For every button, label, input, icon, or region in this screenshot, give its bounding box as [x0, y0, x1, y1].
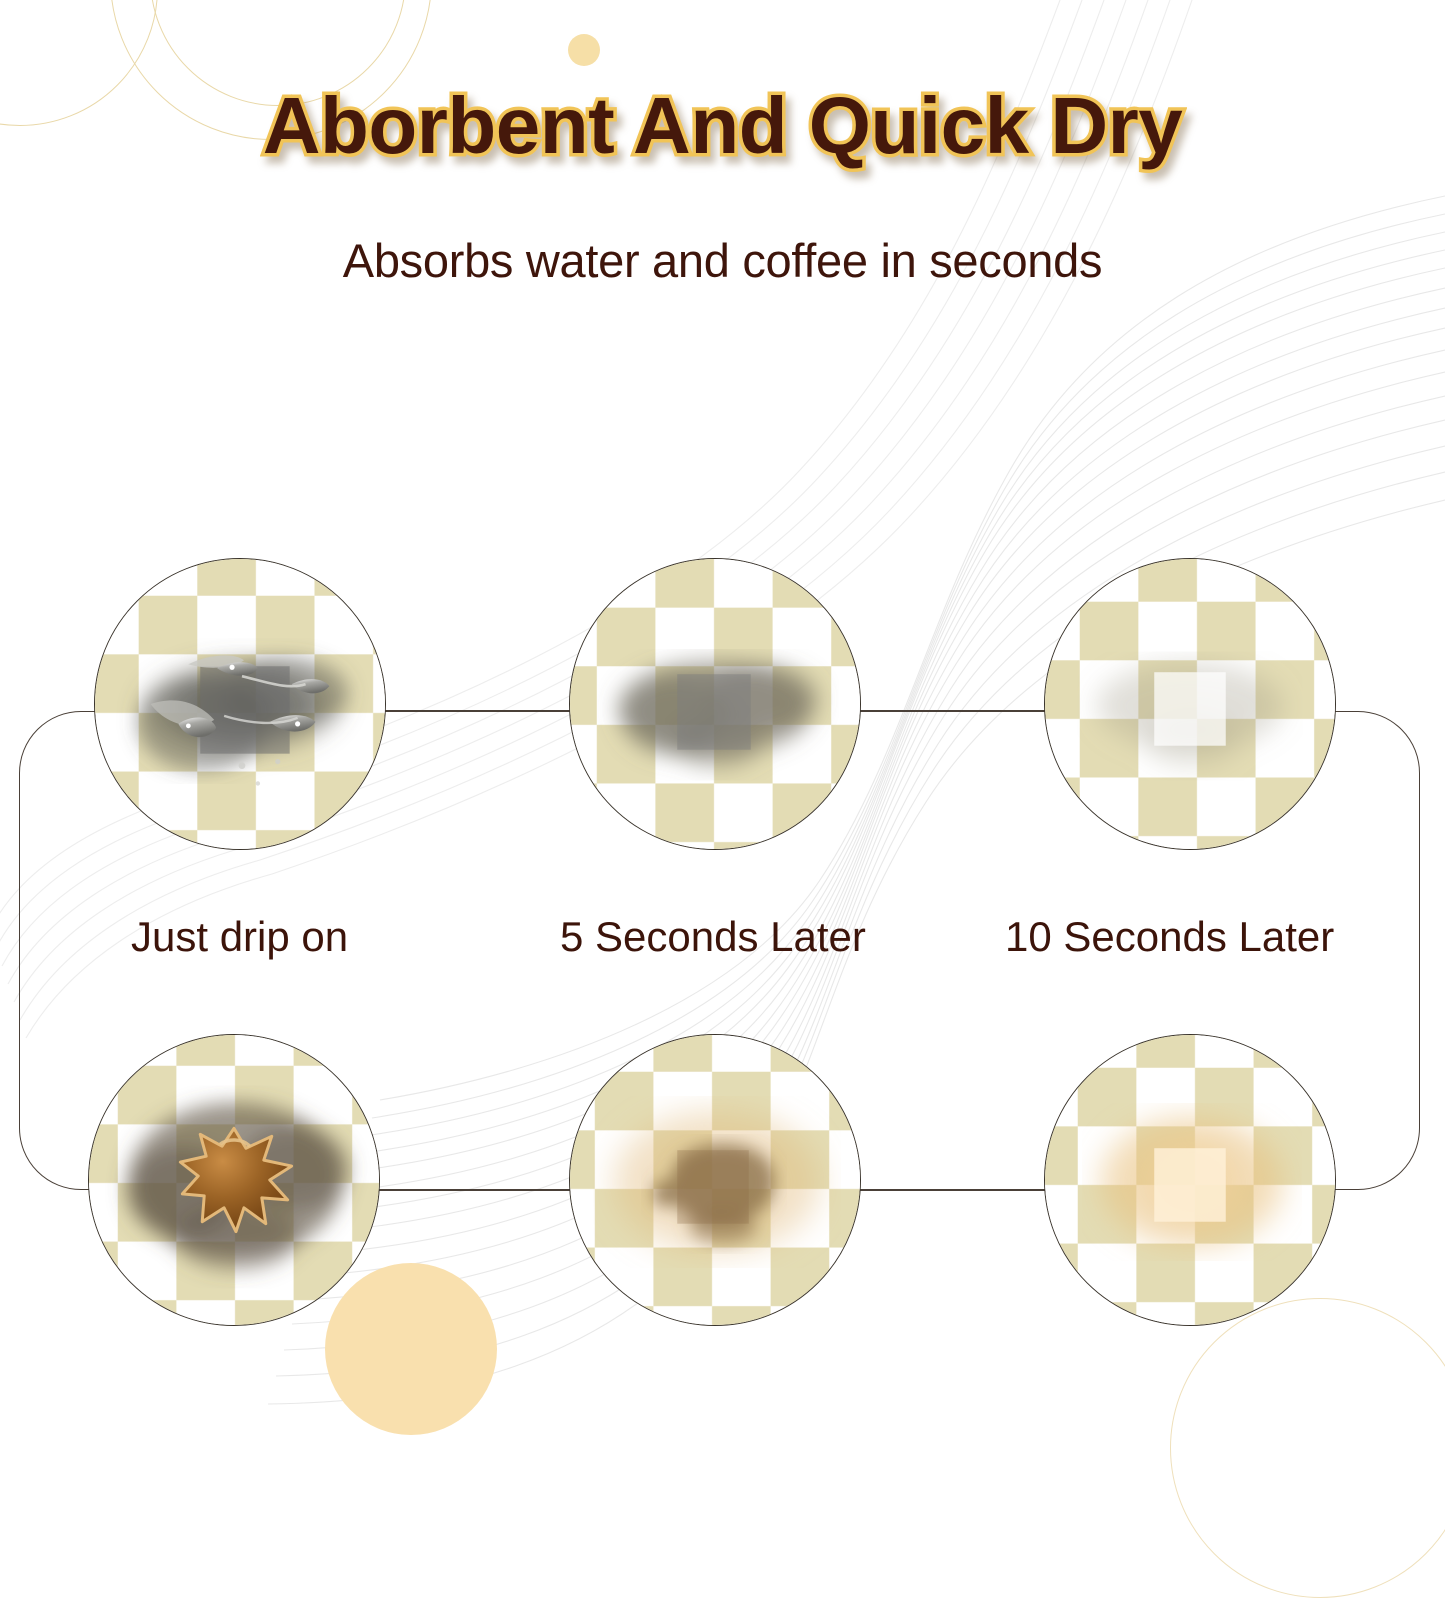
connector-bottom-right [845, 1190, 1055, 1191]
checker-pattern [569, 1034, 861, 1326]
decor-dot-large [325, 1263, 497, 1435]
connector-top-left [370, 710, 582, 711]
checker-pattern [1044, 1034, 1336, 1326]
sample-water-just-drip-on [94, 558, 386, 850]
sample-water-5-seconds [569, 558, 861, 850]
sample-water-10-seconds [1044, 558, 1336, 850]
sample-coffee-10-seconds [1044, 1034, 1336, 1326]
caption-5-seconds: 5 Seconds Later [560, 913, 866, 961]
page-title: Aborbent And Quick Dry [0, 86, 1445, 166]
connector-bottom-left [368, 1190, 582, 1191]
page-subtitle: Absorbs water and coffee in seconds [0, 233, 1445, 288]
checker-pattern [94, 558, 386, 850]
checker-pattern [569, 558, 861, 850]
connector-top-right [845, 710, 1055, 711]
caption-10-seconds: 10 Seconds Later [1005, 913, 1334, 961]
caption-just-drip-on: Just drip on [131, 913, 348, 961]
infographic-canvas: Aborbent And Quick Dry Absorbs water and… [0, 0, 1445, 1441]
checker-pattern [1044, 558, 1336, 850]
sample-coffee-5-seconds [569, 1034, 861, 1326]
checker-pattern [88, 1034, 380, 1326]
decor-dot-small [568, 34, 600, 66]
decor-ring-bottom-right [1170, 1298, 1445, 1598]
sample-coffee-just-drip-on [88, 1034, 380, 1326]
